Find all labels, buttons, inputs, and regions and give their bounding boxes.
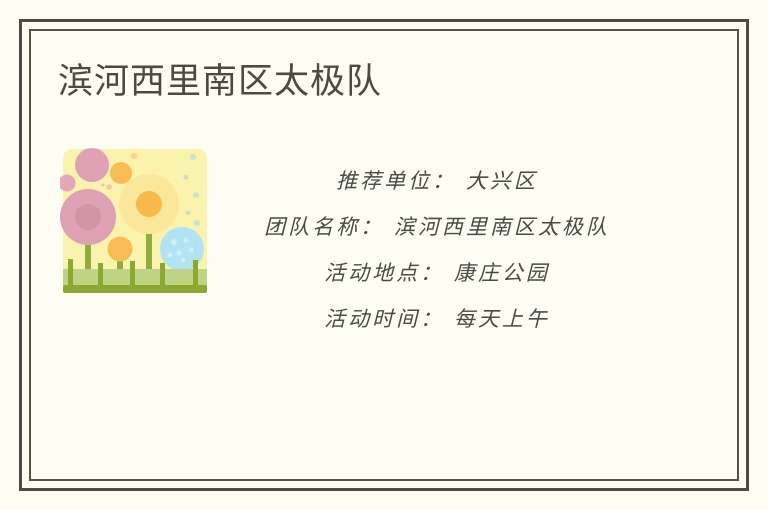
activity-info-block: 推荐单位： 大兴区 团队名称： 滨河西里南区太极队 活动地点： 康庄公园 活动时… xyxy=(222,158,652,342)
flower-garden-illustration xyxy=(60,145,210,297)
page-title: 滨河西里南区太极队 xyxy=(58,60,382,104)
info-line-recommending-unit: 推荐单位： 大兴区 xyxy=(222,158,652,204)
info-line-team-name: 团队名称： 滨河西里南区太极队 xyxy=(222,204,652,250)
card-page: 滨河西里南区太极队 xyxy=(0,0,768,510)
info-line-activity-location: 活动地点： 康庄公园 xyxy=(222,250,652,296)
info-line-activity-time: 活动时间： 每天上午 xyxy=(222,296,652,342)
